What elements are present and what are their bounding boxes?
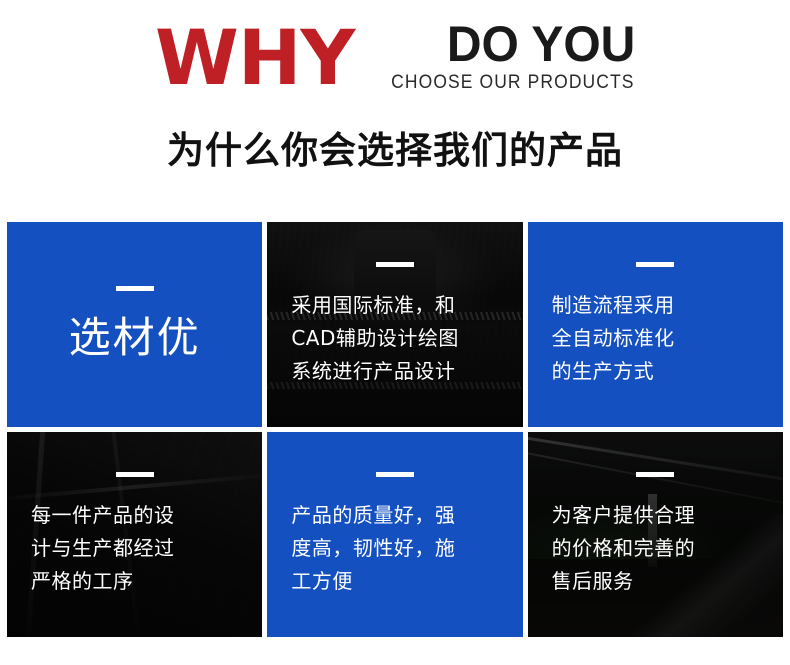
feature-card-1-body: 选材优 <box>7 286 262 363</box>
feature-card-6-body: 为客户提供合理 的价格和完善的 售后服务 <box>528 472 783 598</box>
headline-right-stack: DO YOU CHOOSE OUR PRODUCTS <box>370 18 635 96</box>
feature-grid: 选材优 采用国际标准，和 CAD辅助设计绘图 系统进行产品设计 制造流程采用 全… <box>7 222 783 637</box>
dash-rule-icon <box>636 262 674 267</box>
feature-card-2-text: 采用国际标准，和 CAD辅助设计绘图 系统进行产品设计 <box>291 289 459 388</box>
feature-card-1[interactable]: 选材优 <box>7 222 262 427</box>
feature-card-6-text: 为客户提供合理 的价格和完善的 售后服务 <box>552 499 696 598</box>
dash-rule-icon <box>376 262 414 267</box>
dash-rule-icon <box>376 472 414 477</box>
feature-card-4-text: 每一件产品的设 计与生产都经过 严格的工序 <box>31 499 175 598</box>
headline-row: WHY DO YOU CHOOSE OUR PRODUCTS <box>0 18 790 96</box>
headline-do-you: DO YOU <box>447 18 635 70</box>
banner-header: WHY DO YOU CHOOSE OUR PRODUCTS 为什么你会选择我们… <box>0 0 790 200</box>
feature-card-6[interactable]: 为客户提供合理 的价格和完善的 售后服务 <box>528 432 783 637</box>
page-title: 为什么你会选择我们的产品 <box>0 128 790 174</box>
dash-rule-icon <box>636 472 674 477</box>
headline-why: WHY <box>155 20 354 96</box>
feature-card-5-body: 产品的质量好，强 度高，韧性好，施 工方便 <box>267 472 522 598</box>
headline-tagline: CHOOSE OUR PRODUCTS <box>392 72 635 94</box>
feature-card-3-text: 制造流程采用 全自动标准化 的生产方式 <box>552 289 675 388</box>
feature-card-2-body: 采用国际标准，和 CAD辅助设计绘图 系统进行产品设计 <box>267 262 522 388</box>
feature-card-3-body: 制造流程采用 全自动标准化 的生产方式 <box>528 262 783 388</box>
feature-card-4-body: 每一件产品的设 计与生产都经过 严格的工序 <box>7 472 262 598</box>
dash-rule-icon <box>116 286 154 291</box>
feature-card-1-text: 选材优 <box>69 313 201 363</box>
feature-card-4[interactable]: 每一件产品的设 计与生产都经过 严格的工序 <box>7 432 262 637</box>
feature-card-3[interactable]: 制造流程采用 全自动标准化 的生产方式 <box>528 222 783 427</box>
feature-card-2[interactable]: 采用国际标准，和 CAD辅助设计绘图 系统进行产品设计 <box>267 222 522 427</box>
promo-banner: WHY DO YOU CHOOSE OUR PRODUCTS 为什么你会选择我们… <box>0 0 790 665</box>
feature-card-5[interactable]: 产品的质量好，强 度高，韧性好，施 工方便 <box>267 432 522 637</box>
dash-rule-icon <box>116 472 154 477</box>
feature-card-5-text: 产品的质量好，强 度高，韧性好，施 工方便 <box>291 499 455 598</box>
